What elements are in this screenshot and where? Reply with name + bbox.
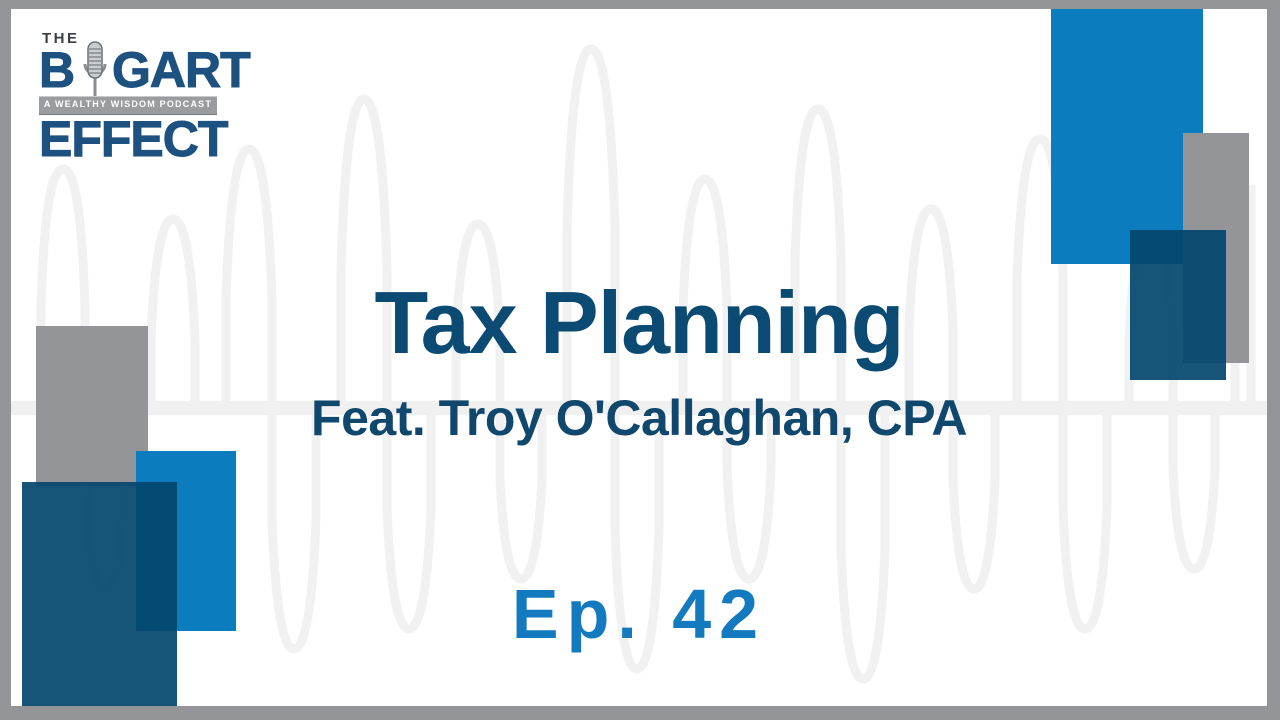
- episode-title: Tax Planning: [11, 277, 1267, 369]
- episode-guest: Feat. Troy O'Callaghan, CPA: [11, 390, 1267, 446]
- title-group: Tax Planning Feat. Troy O'Callaghan, CPA…: [11, 9, 1267, 706]
- cover-canvas: THE BOGART: [11, 9, 1267, 706]
- episode-number: Ep. 42: [11, 574, 1267, 654]
- podcast-episode-cover: THE BOGART: [0, 0, 1280, 720]
